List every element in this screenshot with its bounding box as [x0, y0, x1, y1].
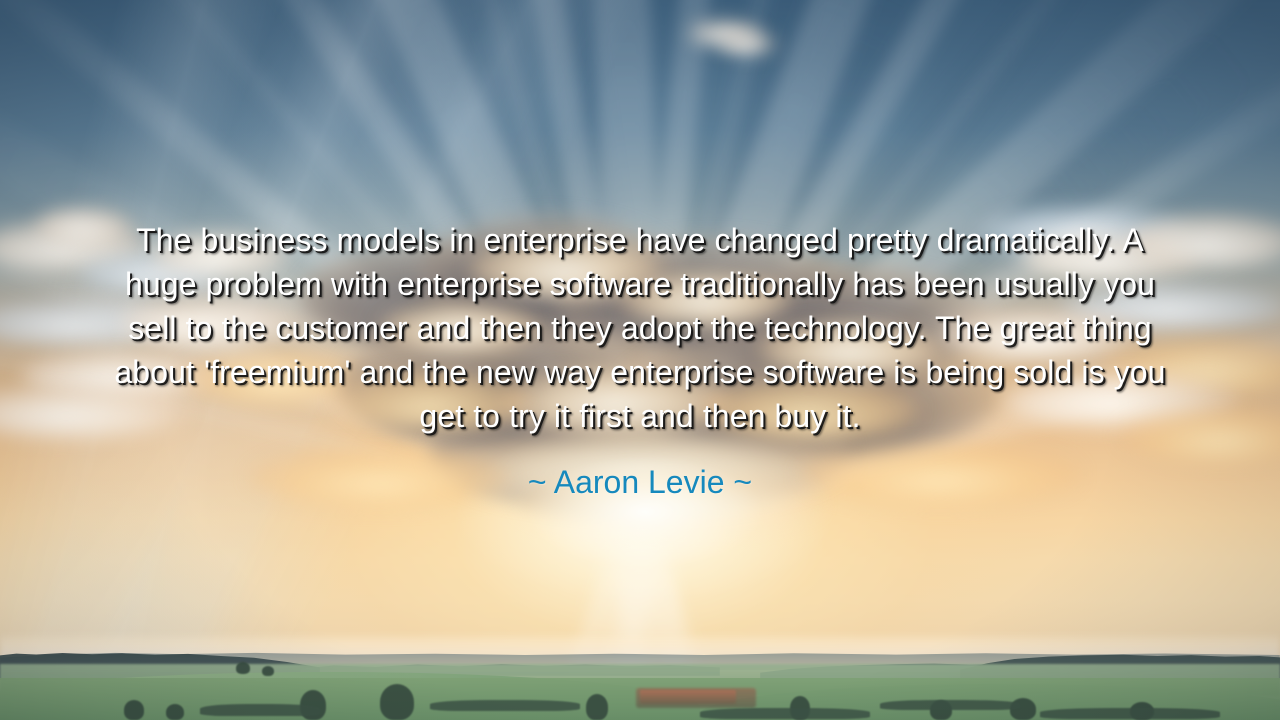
- vignette: [0, 0, 1280, 720]
- quote-card: The business models in enterprise have c…: [0, 0, 1280, 720]
